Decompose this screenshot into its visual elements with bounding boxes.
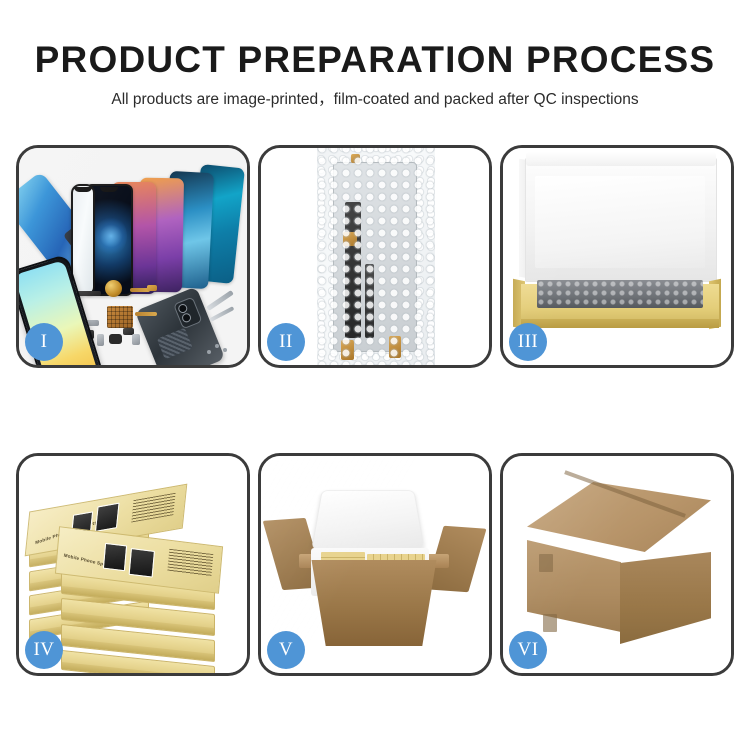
page-title: PRODUCT PREPARATION PROCESS [0,38,750,82]
page-subtitle: All products are image-printed，film-coat… [0,90,750,110]
screw-part-1 [215,344,219,348]
process-step-panel-3[interactable]: III [500,145,734,368]
box-print-image-back-2 [95,503,120,532]
foam-sheet [535,176,705,268]
battery-connector-part [97,334,104,346]
screen-flex-cable-2 [365,264,374,338]
carton-tape-patch-top [539,554,553,572]
process-step-grid: I II [16,145,734,676]
phone-notch-icon [100,187,118,192]
step-badge-1: I [25,323,63,361]
screen-flex-cable-1 [345,202,361,338]
step-badge-3: III [509,323,547,361]
gold-connector-tab-1 [343,232,357,246]
vibration-motor-part [132,334,140,345]
flex-cable-part-2 [135,312,157,316]
speaker-coil-part [105,280,122,297]
process-step-panel-4[interactable]: Mobile Phone Spare Parts Mobile Phone Sp… [16,453,250,676]
bubble-wrapped-contents [537,280,703,308]
process-step-panel-1[interactable]: I [16,145,250,368]
screw-part-2 [223,348,227,352]
internal-coil [157,328,193,360]
styrofoam-lid [311,490,425,550]
step-badge-5: V [267,631,305,669]
camera-module-icon [173,297,203,330]
process-step-panel-2[interactable]: II [258,145,492,368]
step-badge-6: VI [509,631,547,669]
box-print-spec-lines-back [131,493,175,523]
step-badge-2: II [267,323,305,361]
box-print-image-front-1 [103,543,127,571]
bubble-wrap-pouch [317,148,435,365]
step-badge-4: IV [25,631,63,669]
gold-contact-part [147,285,157,291]
header: PRODUCT PREPARATION PROCESS All products… [0,38,750,110]
box-print-spec-lines-front [167,549,213,577]
carton-body [303,560,445,646]
glass-notch-icon [74,187,92,192]
process-step-panel-5[interactable]: V [258,453,492,676]
earpiece-speaker-part [109,334,122,344]
antenna-strip-part [77,291,101,296]
gold-connector-tab-3 [389,336,401,358]
process-step-panel-6[interactable]: VI [500,453,734,676]
box-print-image-front-2 [129,548,155,578]
gold-connector-tab-4 [351,154,360,163]
screw-part-3 [207,350,211,354]
gold-connector-tab-2 [341,340,354,360]
logic-board-part [107,306,133,328]
carton-tape-patch-bottom [543,614,557,632]
product-preparation-infographic: PRODUCT PREPARATION PROCESS All products… [0,0,750,750]
